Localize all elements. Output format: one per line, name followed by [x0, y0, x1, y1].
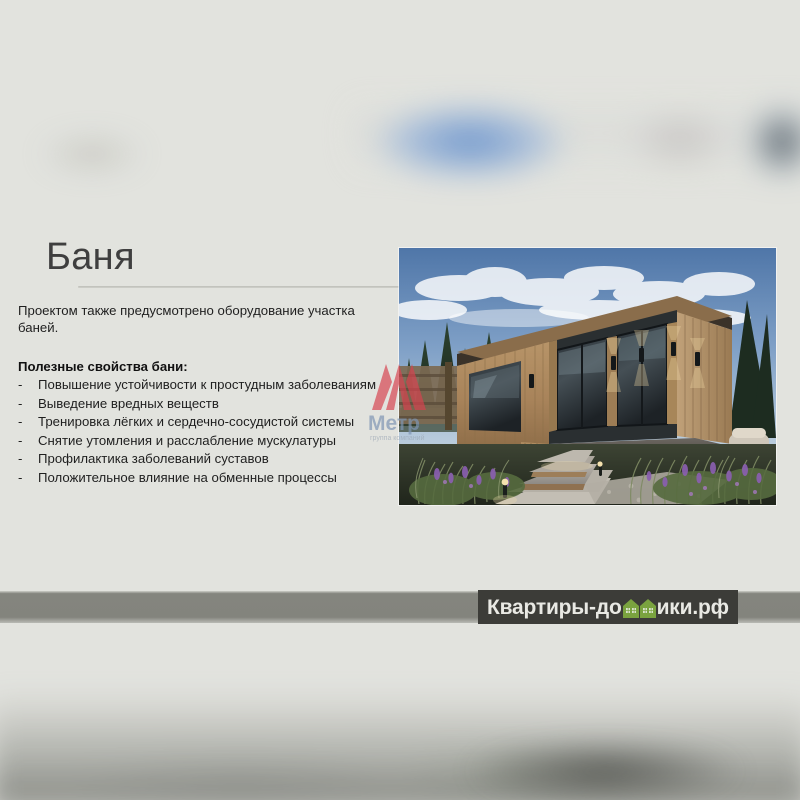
ghost-slide-top [350, 96, 800, 180]
title-divider [78, 286, 400, 288]
list-item: -Тренировка лёгких и сердечно-сосудистой… [18, 413, 396, 432]
house-icon-group [623, 599, 656, 618]
ghost-slide-top-left [20, 120, 180, 180]
list-item: -Профилактика заболеваний суставов [18, 450, 396, 469]
benefits-heading: Полезные свойства бани: [18, 358, 396, 375]
ghost-slide-bottom-tab [440, 735, 770, 800]
list-item: -Снятие утомления и расслабление мускула… [18, 432, 396, 451]
house-icon [640, 599, 656, 618]
slide-body: Проектом также предусмотрено оборудовани… [18, 302, 396, 488]
list-item: -Выведение вредных веществ [18, 395, 396, 414]
site-watermark: Квартиры-до ики.рф [478, 590, 738, 624]
list-item-label: Выведение вредных веществ [38, 396, 219, 411]
house-icon [623, 599, 639, 618]
slide-viewer: Баня Проектом также предусмотрено оборуд… [0, 0, 800, 800]
bullet-dash: - [18, 395, 22, 414]
bathhouse-illustration [399, 248, 776, 505]
list-item-label: Профилактика заболеваний суставов [38, 451, 269, 466]
list-item-label: Снятие утомления и расслабление мускулат… [38, 433, 336, 448]
list-item-label: Положительное влияние на обменные процес… [38, 470, 337, 485]
intro-paragraph: Проектом также предусмотрено оборудовани… [18, 302, 384, 336]
bullet-dash: - [18, 432, 22, 451]
site-watermark-text-before: Квартиры-до [487, 597, 622, 618]
ghost-slide-bottom [0, 690, 800, 800]
bullet-dash: - [18, 450, 22, 469]
bullet-dash: - [18, 469, 22, 488]
bullet-dash: - [18, 413, 22, 432]
list-item: -Повышение устойчивости к простудным заб… [18, 376, 396, 395]
benefits-list: -Повышение устойчивости к простудным заб… [18, 376, 396, 488]
bullet-dash: - [18, 376, 22, 395]
list-item-label: Повышение устойчивости к простудным забо… [38, 377, 376, 392]
list-item: -Положительное влияние на обменные проце… [18, 469, 396, 488]
site-watermark-text-after: ики.рф [657, 597, 729, 618]
page-title: Баня [46, 238, 135, 276]
list-item-label: Тренировка лёгких и сердечно-сосудистой … [38, 414, 354, 429]
bathhouse-photo [399, 248, 776, 505]
